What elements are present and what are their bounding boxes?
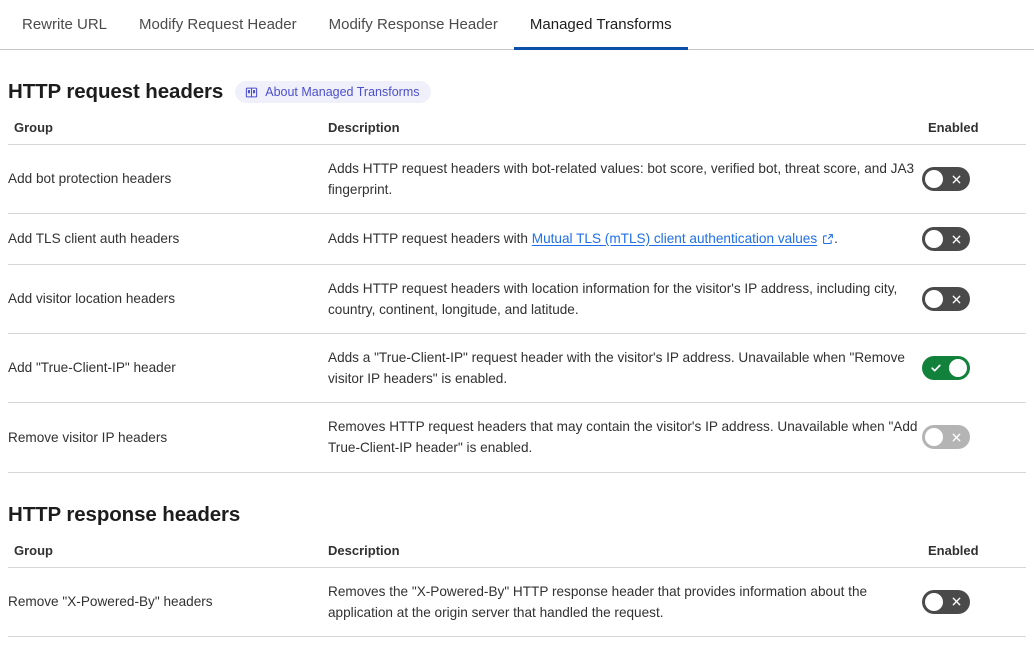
section-header: HTTP response headers	[8, 473, 1026, 543]
description-cell: Adds HTTP request headers with location …	[328, 265, 922, 334]
table-row: Add "True-Client-IP" headerAdds a "True-…	[8, 334, 1026, 403]
description-text: Adds HTTP request headers with location …	[328, 281, 897, 317]
group-cell: Add security headers	[8, 636, 328, 653]
toggle-knob	[925, 290, 943, 308]
toggle-knob	[925, 428, 943, 446]
managed-transforms-page: Rewrite URLModify Request HeaderModify R…	[0, 0, 1034, 653]
description-cell: Removes HTTP request headers that may co…	[328, 403, 922, 472]
enabled-cell	[922, 567, 1026, 636]
group-label: Remove visitor IP headers	[8, 430, 167, 445]
close-icon	[943, 167, 970, 191]
close-icon	[943, 227, 970, 251]
content-area: HTTP request headersAbout Managed Transf…	[0, 50, 1034, 653]
enabled-toggle[interactable]	[922, 590, 970, 614]
enabled-toggle[interactable]	[922, 287, 970, 311]
table-row: Add visitor location headersAdds HTTP re…	[8, 265, 1026, 334]
column-header-description: Description	[328, 543, 922, 568]
tab-rewrite-url[interactable]: Rewrite URL	[6, 0, 123, 49]
column-header-group: Group	[8, 543, 328, 568]
description-cell: Adds a "True-Client-IP" request header w…	[328, 334, 922, 403]
tab-managed-transforms[interactable]: Managed Transforms	[514, 0, 688, 49]
enabled-cell	[922, 265, 1026, 334]
close-icon	[943, 425, 970, 449]
book-icon	[245, 86, 258, 99]
tab-modify-request-header[interactable]: Modify Request Header	[123, 0, 313, 49]
description-cell: Adds HTTP request headers with Mutual TL…	[328, 214, 922, 265]
table-header-row: GroupDescriptionEnabled	[8, 543, 1026, 568]
table-row: Remove "X-Powered-By" headersRemoves the…	[8, 567, 1026, 636]
close-icon	[943, 590, 970, 614]
group-label: Add "True-Client-IP" header	[8, 360, 176, 375]
description-cell: Adds HTTP request headers with bot-relat…	[328, 145, 922, 214]
column-header-enabled: Enabled	[922, 120, 1026, 145]
table-row: Add security headersAdds several securit…	[8, 636, 1026, 653]
column-header-enabled: Enabled	[922, 543, 1026, 568]
section-title: HTTP response headers	[8, 503, 240, 527]
group-cell: Remove "X-Powered-By" headers	[8, 567, 328, 636]
toggle-knob	[949, 359, 967, 377]
group-label: Remove "X-Powered-By" headers	[8, 594, 213, 609]
table-row: Add TLS client auth headersAdds HTTP req…	[8, 214, 1026, 265]
column-header-description: Description	[328, 120, 922, 145]
mutual-tls-link[interactable]: Mutual TLS (mTLS) client authentication …	[532, 231, 817, 246]
group-label: Add visitor location headers	[8, 291, 175, 306]
description-text: Removes HTTP request headers that may co…	[328, 419, 917, 455]
section-title: HTTP request headers	[8, 80, 223, 104]
enabled-cell	[922, 334, 1026, 403]
enabled-toggle	[922, 425, 970, 449]
column-header-group: Group	[8, 120, 328, 145]
toggle-knob	[925, 593, 943, 611]
toggle-knob	[925, 170, 943, 188]
enabled-toggle[interactable]	[922, 227, 970, 251]
table-header-row: GroupDescriptionEnabled	[8, 120, 1026, 145]
enabled-toggle[interactable]	[922, 167, 970, 191]
section-http-request-headers: HTTP request headersAbout Managed Transf…	[8, 50, 1026, 473]
managed-transforms-table: GroupDescriptionEnabledAdd bot protectio…	[8, 120, 1026, 473]
tab-bar: Rewrite URLModify Request HeaderModify R…	[0, 0, 1034, 50]
enabled-cell	[922, 636, 1026, 653]
group-cell: Add "True-Client-IP" header	[8, 334, 328, 403]
section-http-response-headers: HTTP response headersGroupDescriptionEna…	[8, 473, 1026, 653]
close-icon	[943, 287, 970, 311]
description-text: Adds HTTP request headers with bot-relat…	[328, 161, 914, 197]
tab-modify-response-header[interactable]: Modify Response Header	[313, 0, 514, 49]
link-label: Mutual TLS (mTLS) client authentication …	[532, 231, 817, 246]
enabled-toggle[interactable]	[922, 356, 970, 380]
about-managed-transforms-badge[interactable]: About Managed Transforms	[235, 81, 431, 103]
enabled-cell	[922, 214, 1026, 265]
description-cell: Adds several security-related HTTP respo…	[328, 636, 922, 653]
badge-label: About Managed Transforms	[265, 85, 419, 99]
table-row: Remove visitor IP headersRemoves HTTP re…	[8, 403, 1026, 472]
external-link-icon	[822, 230, 834, 251]
description-cell: Removes the "X-Powered-By" HTTP response…	[328, 567, 922, 636]
enabled-cell	[922, 145, 1026, 214]
table-row: Add bot protection headersAdds HTTP requ…	[8, 145, 1026, 214]
group-cell: Add TLS client auth headers	[8, 214, 328, 265]
managed-transforms-table: GroupDescriptionEnabledRemove "X-Powered…	[8, 543, 1026, 653]
toggle-knob	[925, 230, 943, 248]
group-label: Add TLS client auth headers	[8, 231, 179, 246]
group-cell: Remove visitor IP headers	[8, 403, 328, 472]
group-cell: Add visitor location headers	[8, 265, 328, 334]
section-header: HTTP request headersAbout Managed Transf…	[8, 50, 1026, 120]
description-suffix: .	[834, 231, 838, 246]
description-prefix: Adds HTTP request headers with	[328, 231, 532, 246]
enabled-cell	[922, 403, 1026, 472]
group-cell: Add bot protection headers	[8, 145, 328, 214]
check-icon	[922, 356, 949, 380]
group-label: Add bot protection headers	[8, 171, 171, 186]
description-text: Removes the "X-Powered-By" HTTP response…	[328, 584, 867, 620]
description-text: Adds a "True-Client-IP" request header w…	[328, 350, 905, 386]
